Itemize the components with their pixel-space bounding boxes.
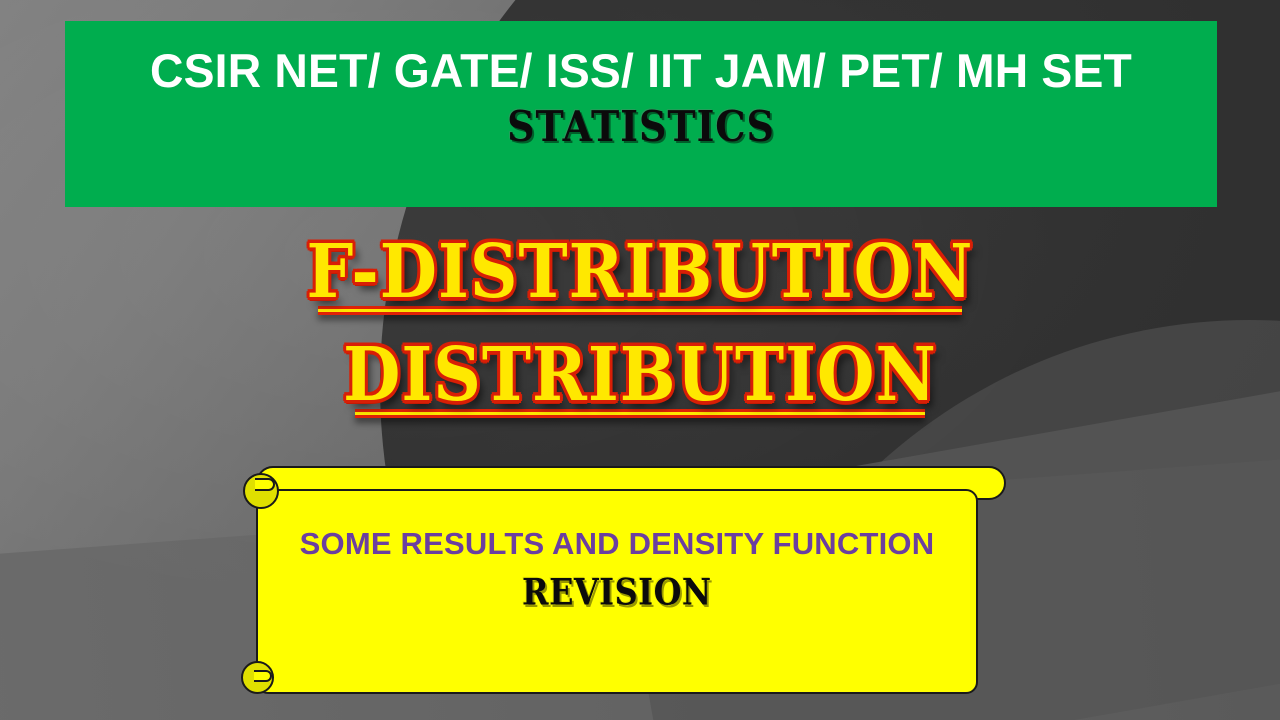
header-banner: CSIR NET/ GATE/ ISS/ IIT JAM/ PET/ MH SE… (65, 21, 1217, 207)
scroll-body: SOME RESULTS AND DENSITY FUNCTION REVISI… (256, 489, 978, 694)
title-line-2: DISTRIBUTION (343, 337, 937, 411)
title-line-1: F-DISTRIBUTION (306, 234, 973, 308)
title-line-2-row: DISTRIBUTION (0, 341, 1280, 418)
callout-main-text: SOME RESULTS AND DENSITY FUNCTION (300, 525, 935, 563)
exam-names-heading: CSIR NET/ GATE/ ISS/ IIT JAM/ PET/ MH SE… (74, 47, 1209, 95)
subject-heading: STATISTICS (94, 102, 1188, 152)
scroll-curl-bottom-left (241, 661, 274, 694)
title-block: F-DISTRIBUTION DISTRIBUTION (0, 238, 1280, 418)
callout-sub-text: REVISION (522, 572, 712, 614)
scroll-curl-top-left (243, 473, 279, 509)
scroll-callout: SOME RESULTS AND DENSITY FUNCTION REVISI… (243, 466, 1008, 694)
slide-canvas: CSIR NET/ GATE/ ISS/ IIT JAM/ PET/ MH SE… (0, 0, 1280, 720)
title-line-1-row: F-DISTRIBUTION (0, 238, 1280, 315)
